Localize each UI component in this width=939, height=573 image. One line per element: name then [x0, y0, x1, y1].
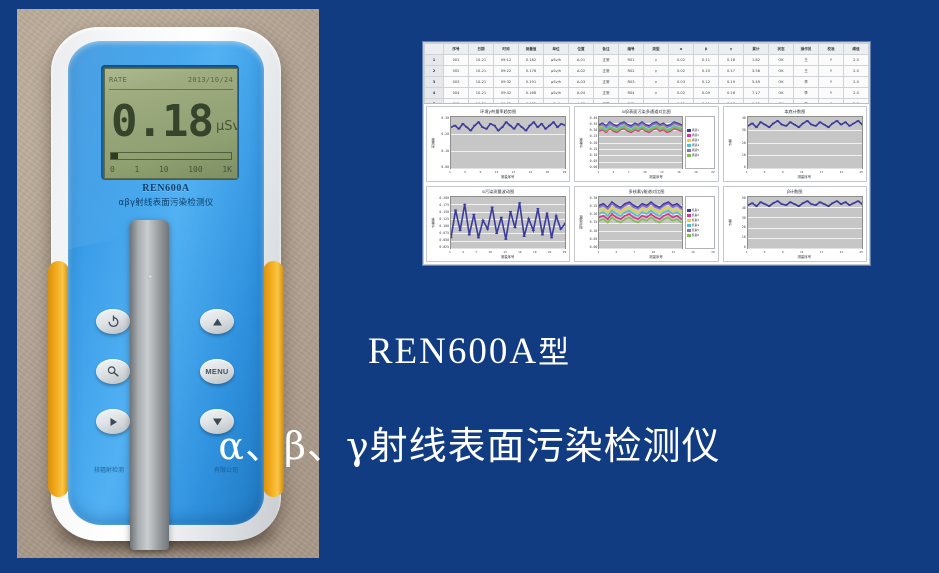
sheet-row: 100110-2109:120.182μSv/hA-01正常R01γ0.020.…: [425, 55, 869, 66]
chart-data-point: [461, 123, 464, 124]
chart-data-point: [655, 206, 657, 207]
sheet-cell: A-05: [569, 99, 594, 105]
chart-y-ticks: 50403020100: [733, 196, 747, 249]
sheet-cell: 正常: [594, 77, 619, 88]
chart-gridline: [599, 168, 681, 169]
sheet-cell: 0.16: [719, 88, 744, 99]
chart-data-point: [532, 230, 535, 231]
sheet-cell: 正常: [594, 88, 619, 99]
chart-series-line: [451, 122, 565, 131]
chart-data-point: [629, 203, 631, 204]
chart-data-point: [532, 121, 535, 122]
chart-y-axis-label: 计数率: [430, 196, 436, 249]
chart-data-point: [771, 202, 774, 203]
sheet-cell: OK: [769, 55, 794, 66]
sheet-cell: Y: [819, 66, 844, 77]
sheet-header-cell: γ: [719, 44, 744, 55]
chart-data-point: [663, 212, 665, 213]
chart-data-point: [491, 206, 494, 207]
chart-data-point: [652, 124, 654, 125]
chart-data-point: [755, 205, 758, 206]
chart-y-tick: 0.05: [590, 159, 598, 163]
chart-series-group: [451, 117, 565, 168]
chart-y-tick: 0.15: [590, 147, 598, 151]
sheet-cell: 0.185: [519, 99, 544, 105]
chart-data-point: [481, 220, 484, 221]
sheet-cell: 0.19: [719, 77, 744, 88]
chart-data-point: [629, 210, 631, 211]
chart-y-axis-label: 计数: [727, 116, 733, 169]
chart-gridline: [451, 168, 565, 169]
chart-series-group: [599, 117, 681, 168]
chart-panel-1: 环境γ剂量率趋势图剂量率0.300.200.100.00159131721252…: [426, 106, 570, 182]
sheet-cell: 2.0: [844, 77, 869, 88]
charts-grid: 环境γ剂量率趋势图剂量率0.300.200.100.00159131721252…: [424, 104, 869, 264]
sheet-cell: 001: [444, 55, 469, 66]
chart-series-group: [748, 117, 862, 168]
sheet-header-cell: [425, 44, 444, 55]
chart-data-point: [620, 124, 622, 125]
chart-y-tick: 0.10: [590, 229, 598, 233]
chart-body: 相对强度0.300.250.200.150.100.050.00核素1核素2核素…: [578, 196, 714, 249]
chart-data-point: [501, 126, 504, 127]
chart-data-point: [629, 213, 631, 214]
sheet-cell: 10-21: [469, 77, 494, 88]
chart-y-tick: 0.00: [590, 165, 598, 169]
product-title-line2: α、β、γ射线表面污染检测仪: [0, 415, 939, 470]
sheet-row: 400410-2109:420.168μSv/hA-04正常R04γ0.020.…: [425, 88, 869, 99]
chart-legend-swatch: [687, 154, 691, 157]
chart-data-point: [805, 120, 808, 121]
lcd-status-bar: RATE 2013/10/24: [109, 72, 233, 88]
chart-data-point: [856, 120, 859, 121]
sheet-header-cell: 类型: [644, 44, 669, 55]
chart-legend-label: 通道1: [692, 128, 699, 132]
chart-data-point: [767, 205, 770, 206]
chart-data-point: [627, 129, 629, 130]
chart-data-point: [810, 124, 813, 125]
sheet-cell: 0.12: [694, 77, 719, 88]
lcd-scale-tick: 10: [159, 165, 169, 174]
chart-data-point: [548, 125, 551, 126]
chart-data-point: [755, 126, 758, 127]
chart-data-point: [668, 203, 670, 204]
chart-y-tick: 10: [742, 235, 746, 239]
chart-legend-swatch: [687, 144, 691, 147]
chart-data-point: [835, 120, 838, 121]
chart-data-point: [605, 126, 607, 127]
chart-data-point: [603, 218, 605, 219]
sheet-cell: 9.02: [744, 99, 769, 105]
chart-data-point: [668, 210, 670, 211]
sheet-cell: γ: [644, 66, 669, 77]
chart-data-point: [750, 202, 753, 203]
chart-data-point: [650, 206, 652, 207]
chart-data-point: [637, 218, 639, 219]
lcd-bezel: RATE 2013/10/24 0.18 μSv/h 0 1 10: [101, 65, 239, 180]
chart-legend-item: 通道2: [687, 133, 713, 137]
sheet-cell: 0.03: [669, 77, 694, 88]
data-sheet-table: 序号日期时间测量值单位位置备注编号类型αβγ累计状态操作员校准阈值100110-…: [424, 43, 869, 104]
sheet-header-cell: 日期: [469, 44, 494, 55]
chart-plot-area: [747, 116, 863, 169]
product-model-suffix: 型: [538, 335, 571, 371]
chart-legend-swatch: [687, 229, 691, 232]
chart-legend-swatch: [687, 214, 691, 217]
chart-data-point: [663, 208, 665, 209]
chart-y-tick: 0.30: [441, 116, 449, 120]
chart-data-point: [629, 201, 631, 202]
chart-data-point: [677, 128, 679, 129]
sheet-cell: γ: [644, 99, 669, 105]
lcd-reading: 0.18 μSv/h: [111, 93, 233, 151]
chart-data-point: [624, 218, 626, 219]
sheet-header-cell: β: [694, 44, 719, 55]
chart-y-ticks: 0.300.250.200.150.100.050.00: [584, 196, 598, 249]
chart-data-point: [852, 202, 855, 203]
chart-x-axis-label: 测量序号: [449, 254, 566, 259]
chart-data-point: [469, 130, 472, 131]
sheet-cell: 10-21: [469, 99, 494, 105]
chart-legend-item: 通道3: [687, 138, 713, 142]
chart-y-tick: 0.200: [439, 196, 449, 200]
lcd-screen: RATE 2013/10/24 0.18 μSv/h 0 1 10: [104, 68, 238, 179]
chart-data-point: [536, 126, 539, 127]
chart-data-point: [642, 218, 644, 219]
chart-data-point: [609, 126, 611, 127]
chart-y-tick: 0.25: [590, 134, 598, 138]
chart-data-point: [839, 124, 842, 125]
chart-plot-area: [598, 116, 682, 169]
sheet-header-cell: 累计: [744, 44, 769, 55]
chart-data-point: [627, 125, 629, 126]
sheet-cell: 005: [444, 99, 469, 105]
chart-legend-label: 核素3: [692, 218, 699, 222]
chart-data-point: [559, 228, 562, 229]
sheet-header-cell: 状态: [769, 44, 794, 55]
chart-data-point: [611, 213, 613, 214]
chart-data-point: [672, 220, 674, 221]
chart-data-point: [620, 208, 622, 209]
chart-data-point: [486, 228, 489, 229]
chart-legend-item: 核素4: [687, 223, 713, 227]
sheet-header-cell: 序号: [444, 44, 469, 55]
chart-title: α/β表面污染多通道对比图: [578, 109, 714, 115]
chart-data-point: [856, 200, 859, 201]
chart-data-point: [822, 124, 825, 125]
chart-data-point: [801, 123, 804, 124]
sheet-cell: OK: [769, 99, 794, 105]
chart-data-point: [663, 124, 665, 125]
chart-data-point: [463, 204, 466, 205]
chart-data-point: [831, 202, 834, 203]
chart-data-point: [454, 209, 457, 210]
sheet-row: 200210-2109:220.176μSv/hA-02正常R02γ0.020.…: [425, 66, 869, 77]
sheet-cell: 正常: [594, 99, 619, 105]
lcd-value: 0.18: [111, 100, 213, 144]
chart-data-point: [655, 217, 657, 218]
chart-plot-area: [598, 196, 682, 249]
sheet-cell: 正常: [594, 55, 619, 66]
chart-legend: 通道1通道2通道3通道4通道5通道6: [685, 116, 715, 169]
chart-data-point: [633, 220, 635, 221]
device-handle-strap: [130, 220, 169, 550]
sheet-cell: R05: [619, 99, 644, 105]
chart-data-point: [668, 217, 670, 218]
chart-title: β计数图: [727, 189, 863, 195]
chart-data-point: [550, 237, 553, 238]
chart-data-point: [652, 128, 654, 129]
sheet-cell: R02: [619, 66, 644, 77]
chart-data-point: [518, 202, 521, 203]
device-model-label: REN600A: [68, 183, 264, 194]
chart-title: 多核素γ能谱对比图: [578, 189, 714, 195]
chart-data-point: [668, 206, 670, 207]
chart-legend-item: 通道6: [687, 153, 713, 157]
chart-data-point: [545, 212, 548, 213]
chart-data-point: [659, 125, 661, 126]
sheet-cell: 0.11: [694, 99, 719, 105]
sheet-cell: 王: [794, 55, 819, 66]
chart-data-point: [468, 234, 471, 235]
chart-data-point: [677, 124, 679, 125]
sheet-cell: A-04: [569, 88, 594, 99]
chart-data-point: [603, 205, 605, 206]
chart-data-point: [495, 233, 498, 234]
chart-legend-item: 核素2: [687, 213, 713, 217]
chart-data-point: [616, 130, 618, 131]
chart-y-tick: 0.050: [439, 238, 449, 242]
chart-legend-swatch: [687, 209, 691, 212]
chart-data-point: [788, 201, 791, 202]
chart-data-point: [523, 236, 526, 237]
chart-data-point: [556, 126, 559, 127]
chart-panel-2: α/β表面污染多通道对比图计数率0.400.350.300.250.200.15…: [574, 106, 718, 182]
software-screenshot: 序号日期时间测量值单位位置备注编号类型αβγ累计状态操作员校准阈值100110-…: [423, 42, 870, 265]
chart-data-point: [611, 210, 613, 211]
chart-data-point: [624, 205, 626, 206]
chart-plot-area: [450, 116, 566, 169]
chart-data-point: [612, 125, 614, 126]
sheet-cell: 10-21: [469, 55, 494, 66]
chart-data-point: [611, 217, 613, 218]
chart-y-tick: 0.30: [590, 196, 598, 200]
sheet-cell: R04: [619, 88, 644, 99]
triangle-up-icon: [211, 316, 224, 328]
sheet-cell: 5.49: [744, 77, 769, 88]
sheet-cell: 王: [794, 66, 819, 77]
chart-data-point: [472, 214, 475, 215]
chart-y-tick: 0.100: [439, 224, 449, 228]
chart-data-point: [642, 208, 644, 209]
chart-data-point: [646, 213, 648, 214]
chart-data-point: [607, 222, 609, 223]
chart-body: 计数403020100: [727, 116, 863, 169]
chart-data-point: [673, 126, 675, 127]
chart-body: 计数50403020100: [727, 196, 863, 249]
chart-legend-swatch: [687, 139, 691, 142]
chart-y-axis-label: 计数: [727, 196, 733, 249]
chart-y-tick: 50: [742, 196, 746, 200]
chart-data-point: [637, 222, 639, 223]
chart-data-point: [668, 213, 670, 214]
chart-data-point: [634, 128, 636, 129]
chart-data-point: [810, 203, 813, 204]
chart-gridline: [451, 248, 565, 249]
chart-data-point: [620, 212, 622, 213]
chart-data-point: [512, 128, 515, 129]
chart-data-point: [641, 123, 643, 124]
chart-data-point: [672, 213, 674, 214]
chart-data-point: [497, 130, 500, 131]
chart-body: 计数率0.400.350.300.250.200.150.100.050.00通…: [578, 116, 714, 169]
chart-data-point: [520, 126, 523, 127]
chart-data-point: [541, 234, 544, 235]
sheet-cell: 0.191: [519, 77, 544, 88]
chart-data-point: [672, 206, 674, 207]
chart-data-point: [504, 239, 507, 240]
chart-data-point: [459, 230, 462, 231]
chart-data-point: [784, 204, 787, 205]
chart-data-point: [780, 124, 783, 125]
chart-data-point: [673, 123, 675, 124]
chart-y-axis-label: 计数率: [578, 116, 584, 169]
chart-y-tick: 40: [742, 206, 746, 210]
chart-data-point: [801, 202, 804, 203]
chart-data-point: [493, 125, 496, 126]
chart-legend-item: 核素1: [687, 208, 713, 212]
chart-data-point: [607, 208, 609, 209]
chart-data-point: [676, 215, 678, 216]
chart-data-point: [603, 203, 605, 204]
sheet-cell: 张: [794, 99, 819, 105]
chart-legend-label: 核素2: [692, 213, 699, 217]
chart-data-point: [513, 227, 516, 228]
handle-rivet: [147, 274, 152, 279]
chart-data-point: [659, 218, 661, 219]
chart-series-group: [599, 197, 681, 248]
chart-data-point: [477, 237, 480, 238]
chart-data-point: [544, 128, 547, 129]
sheet-cell: 0.18: [719, 99, 744, 105]
chart-data-point: [759, 201, 762, 202]
chart-legend-label: 核素5: [692, 228, 699, 232]
chart-data-point: [676, 203, 678, 204]
chart-data-point: [776, 120, 779, 121]
chart-data-point: [676, 205, 678, 206]
chart-data-point: [642, 212, 644, 213]
chart-data-point: [848, 125, 851, 126]
sheet-cell: 李: [794, 77, 819, 88]
chart-y-tick: 0.025: [439, 245, 449, 249]
chart-data-point: [560, 123, 563, 124]
chart-y-ticks: 403020100: [733, 116, 747, 169]
chart-x-axis-label: 测量序号: [746, 174, 863, 179]
chart-data-point: [527, 218, 530, 219]
chart-data-point: [629, 206, 631, 207]
chart-legend-item: 通道5: [687, 148, 713, 152]
chart-data-point: [620, 222, 622, 223]
chart-data-point: [633, 217, 635, 218]
sheet-cell: 004: [444, 88, 469, 99]
chart-y-tick: 0.10: [441, 149, 449, 153]
chart-data-point: [663, 128, 665, 129]
chart-legend-label: 核素1: [692, 208, 699, 212]
chart-data-point: [637, 215, 639, 216]
product-model-text: REN600A: [368, 331, 538, 372]
sheet-row: 500510-2109:520.185μSv/hA-05正常R05γ0.020.…: [425, 99, 869, 105]
chart-y-ticks: 0.400.350.300.250.200.150.100.050.00: [584, 116, 598, 169]
chart-data-point: [659, 215, 661, 216]
sheet-cell: R03: [619, 77, 644, 88]
chart-data-point: [839, 203, 842, 204]
sheet-header-cell: α: [669, 44, 694, 55]
chart-legend-label: 通道6: [692, 153, 699, 157]
chart-data-point: [659, 208, 661, 209]
chart-data-point: [814, 204, 817, 205]
sheet-header-cell: 操作员: [794, 44, 819, 55]
chart-y-tick: 0.25: [590, 204, 598, 208]
chart-data-point: [852, 123, 855, 124]
chart-x-axis-label: 测量序号: [597, 254, 714, 259]
chart-y-tick: 0.125: [439, 217, 449, 221]
chart-data-point: [528, 125, 531, 126]
chart-data-point: [645, 129, 647, 130]
chart-legend-item: 核素3: [687, 218, 713, 222]
chart-y-tick: 0.35: [590, 122, 598, 126]
chart-y-tick: 0.30: [590, 128, 598, 132]
chart-title: 环境γ剂量率趋势图: [430, 109, 566, 115]
chart-legend: 核素1核素2核素3核素4核素5核素6: [685, 196, 715, 249]
sheet-header-cell: 测量值: [519, 44, 544, 55]
chart-data-point: [663, 215, 665, 216]
chart-data-point: [453, 125, 456, 126]
chart-data-point: [670, 125, 672, 126]
chart-data-point: [485, 128, 488, 129]
sheet-cell: 4: [425, 88, 444, 99]
sheet-cell: 0.09: [694, 88, 719, 99]
chart-data-point: [620, 218, 622, 219]
chart-data-point: [623, 126, 625, 127]
sheet-cell: 003: [444, 77, 469, 88]
sheet-cell: 0.02: [669, 88, 694, 99]
chart-data-point: [646, 220, 648, 221]
sheet-cell: 7.17: [744, 88, 769, 99]
chart-data-point: [630, 126, 632, 127]
chart-data-point: [623, 123, 625, 124]
chart-data-point: [620, 128, 622, 129]
chart-data-point: [666, 130, 668, 131]
chart-data-point: [676, 212, 678, 213]
chart-data-point: [524, 130, 527, 131]
product-photo: RATE 2013/10/24 0.18 μSv/h 0 1 10: [17, 9, 319, 558]
sheet-cell: γ: [644, 88, 669, 99]
chart-data-point: [666, 126, 668, 127]
chart-data-point: [793, 124, 796, 125]
sheet-cell: 3: [425, 77, 444, 88]
chart-data-point: [771, 123, 774, 124]
chart-data-point: [607, 215, 609, 216]
chart-body: 剂量率0.300.200.100.00: [430, 116, 566, 169]
chart-data-point: [763, 124, 766, 125]
chart-data-point: [629, 217, 631, 218]
chart-data-point: [676, 208, 678, 209]
chart-data-point: [611, 201, 613, 202]
chart-data-point: [659, 212, 661, 213]
chart-data-point: [602, 124, 604, 125]
sheet-cell: 0.168: [519, 88, 544, 99]
chart-y-tick: 0.40: [590, 116, 598, 120]
